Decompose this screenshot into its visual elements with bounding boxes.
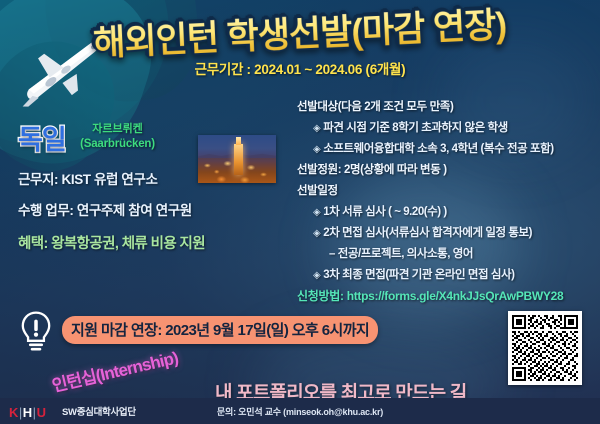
work-period-subtitle: 근무기간 : 2024.01 ~ 2024.06 (6개월) [0,58,600,78]
diamond-bullet-icon: ◈ [313,228,320,239]
schedule-item-label: 3차 최종 면접(파견 기관 온라인 면접 심사) [323,269,514,281]
diamond-bullet-icon: ◈ [313,207,320,218]
lightbulb-icon [18,310,54,354]
criteria-item: ◈파견 시점 기준 8학기 초과하지 않은 학생 [313,119,593,135]
schedule-item-label: 2차 면접 심사(서류심사 합격자에게 일정 통보) [323,227,532,239]
city-label: 자르브뤼켄 (Saarbrücken) [80,123,155,152]
criteria-item-label: 소프트웨어융합대학 소속 3, 4학년 (복수 전공 포함) [323,143,553,155]
title-block: 해외인턴 학생선발(마감 연장) [0,6,600,57]
deadline-banner: 지원 마감 연장: 2023년 9월 17일(일) 오후 6시까지 [62,316,378,344]
diamond-bullet-icon: ◈ [313,123,320,134]
diamond-bullet-icon: ◈ [313,144,320,155]
city-photo [198,135,276,183]
criteria-item: ◈소프트웨어융합대학 소속 3, 4학년 (복수 전공 포함) [313,140,593,156]
diamond-bullet-icon: ◈ [313,270,320,281]
qr-code-image [512,315,578,381]
schedule-subitem: – 전공/프로젝트, 의사소통, 영어 [329,245,593,261]
quota-text: 선발정원: 2명(상황에 따라 변동 ) [297,161,593,177]
schedule-item: ◈3차 최종 면접(파견 기관 온라인 면접 심사) [313,266,593,282]
apply-link[interactable]: 신청방법: https://forms.gle/X4nkJJsQrAwPBWY2… [297,287,593,304]
page-title: 해외인턴 학생선발(마감 연장) [92,0,507,66]
footer-contact: 문의: 오민석 교수 (minseok.oh@khu.ac.kr) [0,405,600,418]
photo-tower [234,144,243,176]
benefit-text: 혜택: 왕복항공권, 체류 비용 지원 [18,232,288,253]
tagline-internship: 인턴십(Internship) [49,343,180,396]
details-block: 선발대상(다음 2개 조건 모두 만족) ◈파견 시점 기준 8학기 초과하지 … [297,98,593,304]
qr-code[interactable] [508,311,582,385]
schedule-item: ◈1차 서류 심사 ( ~ 9.20(수) ) [313,203,593,219]
criteria-heading: 선발대상(다음 2개 조건 모두 만족) [297,98,593,114]
schedule-heading: 선발일정 [297,182,593,198]
city-name-en: (Saarbrücken) [80,138,155,150]
country-name: 독일 [18,118,66,157]
poster-canvas: 해외인턴 학생선발(마감 연장) 근무기간 : 2024.01 ~ 2024.0… [0,0,600,424]
duty-text: 수행 업무: 연구주제 참여 연구원 [18,199,288,219]
city-name-ko: 자르브뤼켄 [92,123,143,135]
schedule-item: ◈2차 면접 심사(서류심사 합격자에게 일정 통보) [313,224,593,240]
schedule-item-label: 1차 서류 심사 ( ~ 9.20(수) ) [323,206,447,218]
criteria-item-label: 파견 시점 기준 8학기 초과하지 않은 학생 [323,122,508,134]
